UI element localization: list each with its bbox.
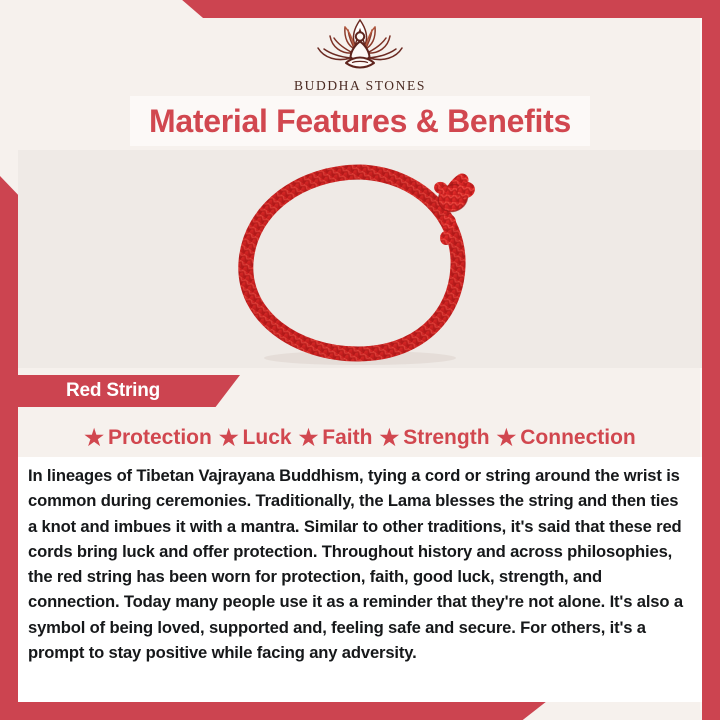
star-icon: ★ (299, 427, 319, 449)
star-icon: ★ (219, 427, 239, 449)
lotus-meditating-figure-icon (308, 14, 412, 76)
benefit-strength: ★ Strength (379, 426, 489, 450)
benefit-connection: ★ Connection (497, 426, 636, 450)
frame-right-accent-bar (702, 18, 720, 720)
benefit-label: Strength (403, 426, 489, 450)
hero-product-image (18, 150, 702, 368)
description-paragraph: In lineages of Tibetan Vajrayana Buddhis… (28, 463, 688, 665)
benefit-luck: ★ Luck (219, 426, 292, 450)
benefits-row: ★ Protection ★ Luck ★ Faith ★ Strength ★… (18, 420, 702, 456)
brand-logo: BUDDHA STONES (0, 14, 720, 94)
benefit-label: Faith (322, 426, 372, 450)
benefit-protection: ★ Protection (84, 426, 212, 450)
brand-wordmark: BUDDHA STONES (294, 78, 426, 94)
benefit-faith: ★ Faith (299, 426, 373, 450)
star-icon: ★ (379, 427, 399, 449)
red-braided-string-bracelet-with-knot-icon (210, 150, 510, 368)
product-label-banner: Red String (18, 375, 240, 407)
benefit-label: Connection (520, 426, 636, 450)
page-title: Material Features & Benefits (149, 103, 571, 140)
benefit-label: Luck (243, 426, 292, 450)
benefit-label: Protection (108, 426, 212, 450)
description-card: In lineages of Tibetan Vajrayana Buddhis… (18, 457, 702, 702)
frame-left-accent-bar (0, 176, 18, 710)
star-icon: ★ (497, 427, 517, 449)
title-banner: Material Features & Benefits (130, 96, 590, 146)
frame-bottom-accent-bar (0, 702, 720, 720)
product-infographic-poster: BUDDHA STONES Material Features & Benefi… (0, 0, 720, 720)
star-icon: ★ (84, 427, 104, 449)
product-label-text: Red String (18, 380, 160, 402)
